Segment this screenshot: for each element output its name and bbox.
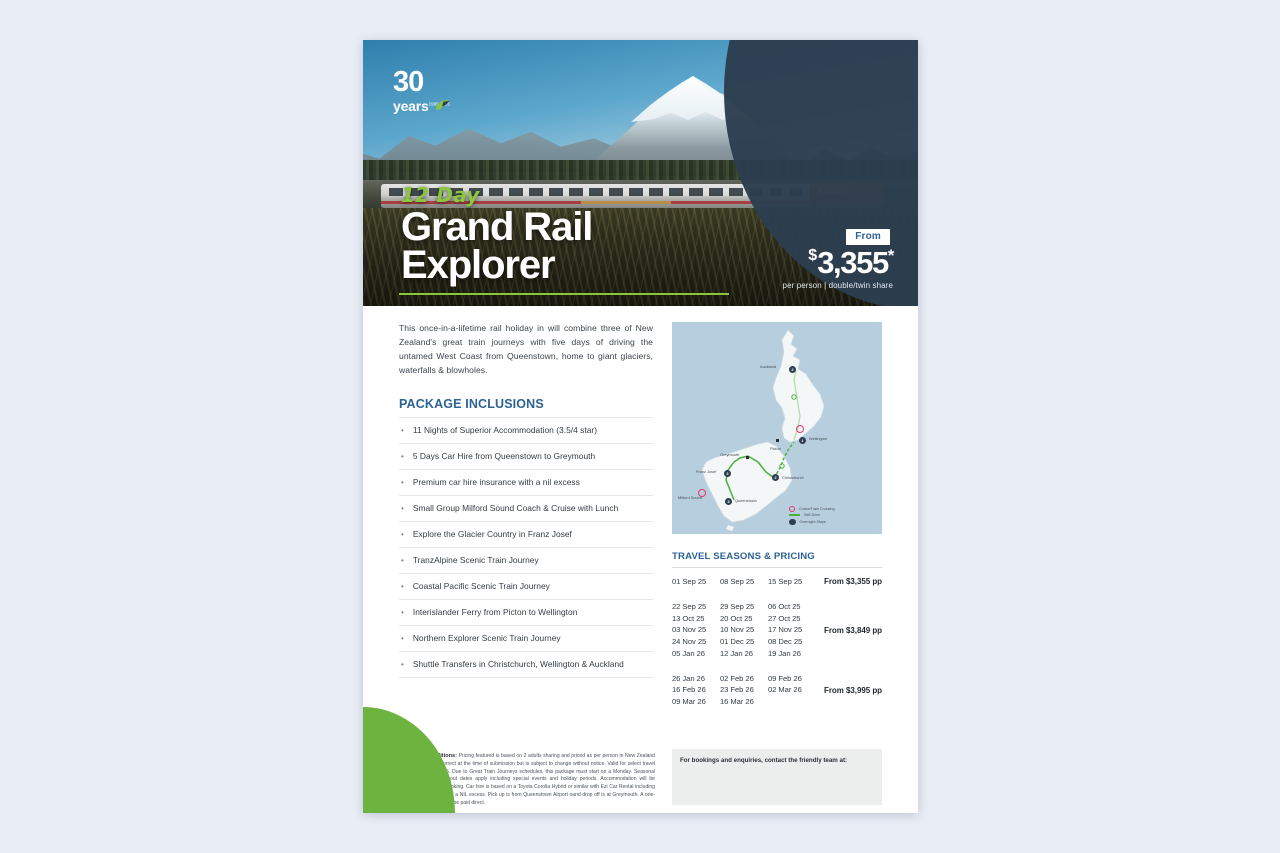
pricing-date-cell: 13 Oct 25 bbox=[672, 613, 720, 625]
inclusion-item: •Northern Explorer Scenic Train Journey bbox=[399, 625, 653, 651]
pricing-date-cell: 12 Jan 26 bbox=[720, 648, 768, 660]
inclusion-label: Explore the Glacier Country in Franz Jos… bbox=[413, 529, 572, 539]
map-label-franz-josef: Franz Josef bbox=[696, 469, 716, 474]
kiwi-bird-icon bbox=[435, 98, 451, 112]
legend-item-overnight: Overnight Stays bbox=[789, 519, 875, 526]
pricing-group: 26 Jan 2602 Feb 2609 Feb 2616 Feb 2623 F… bbox=[672, 673, 882, 708]
map-legend: Cruise/Train Crossing Self-Drive Overnig… bbox=[789, 506, 875, 525]
bullet-icon: • bbox=[401, 609, 404, 617]
hero-title-block: 12 Day Grand Rail Explorer bbox=[401, 183, 592, 284]
price-amount: $3,355* bbox=[808, 247, 893, 278]
pricing-date-cell: 24 Nov 25 bbox=[672, 636, 720, 648]
pricing-date-cell: 05 Jan 26 bbox=[672, 648, 720, 660]
bullet-icon: • bbox=[401, 505, 404, 513]
inclusions-heading: PACKAGE INCLUSIONS bbox=[399, 397, 653, 411]
inclusion-label: Interislander Ferry from Picton to Welli… bbox=[413, 607, 578, 617]
pricing-date-cell: 15 Sep 25 bbox=[768, 576, 816, 588]
pricing-date-block: 22 Sep 2529 Sep 2506 Oct 2513 Oct 2520 O… bbox=[672, 601, 818, 660]
pricing-date-row: 24 Nov 2501 Dec 2508 Dec 25 bbox=[672, 636, 818, 648]
pricing-date-row: 13 Oct 2520 Oct 2527 Oct 25 bbox=[672, 613, 818, 625]
intro-paragraph: This once-in-a-lifetime rail holiday in … bbox=[399, 322, 653, 378]
page-body: This once-in-a-lifetime rail holiday in … bbox=[363, 306, 918, 813]
map-pin-queenstown: 3 bbox=[725, 498, 732, 505]
screenshot-stage: KiwiRail 30 years1995 2025 bbox=[0, 0, 1280, 853]
hero-banner: KiwiRail 30 years1995 2025 bbox=[363, 40, 918, 306]
pricing-date-cell: 23 Feb 26 bbox=[720, 684, 768, 696]
inclusion-item: •Coastal Pacific Scenic Train Journey bbox=[399, 573, 653, 599]
pricing-date-cell: 19 Jan 26 bbox=[768, 648, 816, 660]
map-label-queenstown: Queenstown bbox=[735, 498, 757, 503]
title-underline-rule bbox=[399, 293, 729, 295]
pricing-date-block: 26 Jan 2602 Feb 2609 Feb 2616 Feb 2623 F… bbox=[672, 673, 818, 708]
map-pin-christchurch: 2 bbox=[772, 474, 779, 481]
inclusion-item: •11 Nights of Superior Accommodation (3.… bbox=[399, 417, 653, 443]
new-zealand-map-svg bbox=[672, 322, 882, 534]
route-map: 2 1 2 2 3 Auckland Wellington Picton Gre… bbox=[672, 322, 882, 534]
pricing-date-row: 01 Sep 2508 Sep 2515 Sep 25 bbox=[672, 576, 818, 588]
pricing-date-cell: 29 Sep 25 bbox=[720, 601, 768, 613]
pricing-date-row: 05 Jan 2612 Jan 2619 Jan 26 bbox=[672, 648, 818, 660]
map-label-christchurch: Christchurch bbox=[782, 475, 804, 480]
pricing-date-cell: 09 Mar 26 bbox=[672, 696, 720, 708]
pricing-date-cell: 26 Jan 26 bbox=[672, 673, 720, 685]
map-marker-greymouth bbox=[746, 456, 749, 459]
pricing-amount: From $3,849 pp bbox=[818, 626, 882, 635]
anniversary-number-row: 30 bbox=[393, 68, 455, 97]
cruise-train-crossing-icon bbox=[789, 506, 795, 512]
pricing-amount: From $3,355 pp bbox=[818, 577, 882, 586]
bullet-icon: • bbox=[401, 479, 404, 487]
pricing-date-cell: 01 Sep 25 bbox=[672, 576, 720, 588]
pricing-divider bbox=[672, 567, 882, 568]
self-drive-icon bbox=[789, 514, 800, 516]
map-pin-wellington: 1 bbox=[799, 437, 806, 444]
pricing-date-cell: 27 Oct 25 bbox=[768, 613, 816, 625]
inclusion-label: 5 Days Car Hire from Queenstown to Greym… bbox=[413, 451, 595, 461]
inclusion-item: •Small Group Milford Sound Coach & Cruis… bbox=[399, 495, 653, 521]
pricing-date-cell: 22 Sep 25 bbox=[672, 601, 720, 613]
inclusion-label: Coastal Pacific Scenic Train Journey bbox=[413, 581, 550, 591]
pricing-date-cell: 16 Mar 26 bbox=[720, 696, 768, 708]
pricing-date-cell: 08 Dec 25 bbox=[768, 636, 816, 648]
currency-symbol: $ bbox=[808, 247, 817, 264]
inclusion-item: •TranzAlpine Scenic Train Journey bbox=[399, 547, 653, 573]
pricing-date-cell: 03 Nov 25 bbox=[672, 624, 720, 636]
legend-label-selfdrive: Self-Drive bbox=[804, 512, 820, 518]
inclusion-label: Northern Explorer Scenic Train Journey bbox=[413, 633, 561, 643]
pricing-date-row: 09 Mar 2616 Mar 26 bbox=[672, 696, 818, 708]
bullet-icon: • bbox=[401, 661, 404, 669]
anniversary-word: years bbox=[393, 98, 429, 114]
bullet-icon: • bbox=[401, 453, 404, 461]
price-basis-note: per person | double/twin share bbox=[783, 281, 893, 290]
map-label-wellington: Wellington bbox=[809, 436, 827, 441]
price-asterisk: * bbox=[888, 246, 893, 265]
pricing-group: 22 Sep 2529 Sep 2506 Oct 2513 Oct 2520 O… bbox=[672, 601, 882, 660]
pricing-group: 01 Sep 2508 Sep 2515 Sep 25From $3,355 p… bbox=[672, 576, 882, 588]
pricing-groups: 01 Sep 2508 Sep 2515 Sep 25From $3,355 p… bbox=[672, 576, 882, 708]
pricing-date-row: 16 Feb 2623 Feb 2602 Mar 26 bbox=[672, 684, 818, 696]
map-label-picton: Picton bbox=[770, 446, 781, 451]
pricing-date-block: 01 Sep 2508 Sep 2515 Sep 25 bbox=[672, 576, 818, 588]
tour-title-line2: Explorer bbox=[401, 246, 592, 284]
right-column: 2 1 2 2 3 Auckland Wellington Picton Gre… bbox=[672, 322, 882, 721]
tour-duration-kicker: 12 Day bbox=[401, 183, 592, 207]
map-marker-picton bbox=[776, 439, 779, 442]
bullet-icon: • bbox=[401, 557, 404, 565]
pricing-heading: TRAVEL SEASONS & PRICING bbox=[672, 551, 882, 562]
inclusion-item: •5 Days Car Hire from Queenstown to Grey… bbox=[399, 443, 653, 469]
anniversary-logo: 30 years1995 2025 bbox=[393, 68, 455, 120]
pricing-date-cell: 08 Sep 25 bbox=[720, 576, 768, 588]
pricing-date-cell: 17 Nov 25 bbox=[768, 624, 816, 636]
pricing-date-row: 03 Nov 2510 Nov 2517 Nov 25 bbox=[672, 624, 818, 636]
pricing-date-row: 26 Jan 2602 Feb 2609 Feb 26 bbox=[672, 673, 818, 685]
pricing-date-cell bbox=[768, 696, 816, 708]
inclusion-label: 11 Nights of Superior Accommodation (3.5… bbox=[413, 425, 597, 435]
pricing-date-cell: 20 Oct 25 bbox=[720, 613, 768, 625]
pricing-section: TRAVEL SEASONS & PRICING 01 Sep 2508 Sep… bbox=[672, 551, 882, 708]
pricing-date-row: 22 Sep 2529 Sep 2506 Oct 25 bbox=[672, 601, 818, 613]
pricing-date-cell: 01 Dec 25 bbox=[720, 636, 768, 648]
pricing-date-cell: 06 Oct 25 bbox=[768, 601, 816, 613]
from-badge: From bbox=[846, 229, 890, 245]
map-pin-auckland: 2 bbox=[789, 366, 796, 373]
inclusion-item: •Premium car hire insurance with a nil e… bbox=[399, 469, 653, 495]
contact-text: For bookings and enquiries, contact the … bbox=[672, 749, 882, 764]
price-value: 3,355 bbox=[817, 245, 888, 280]
inclusion-label: TranzAlpine Scenic Train Journey bbox=[413, 555, 539, 565]
contact-box: For bookings and enquiries, contact the … bbox=[672, 749, 882, 805]
bullet-icon: • bbox=[401, 635, 404, 643]
inclusion-label: Small Group Milford Sound Coach & Cruise… bbox=[413, 503, 618, 513]
inclusion-label: Premium car hire insurance with a nil ex… bbox=[413, 477, 580, 487]
brochure-page: KiwiRail 30 years1995 2025 bbox=[363, 40, 918, 813]
legend-label-overnight: Overnight Stays bbox=[800, 519, 826, 525]
inclusion-item: •Interislander Ferry from Picton to Well… bbox=[399, 599, 653, 625]
anniversary-number: 30 bbox=[393, 66, 423, 98]
pricing-date-cell: 10 Nov 25 bbox=[720, 624, 768, 636]
inclusion-label: Shuttle Transfers in Christchurch, Welli… bbox=[413, 659, 624, 669]
map-label-milford-sound: Milford Sound bbox=[678, 495, 702, 500]
map-pin-franz-josef: 2 bbox=[724, 470, 731, 477]
pricing-date-cell: 16 Feb 26 bbox=[672, 684, 720, 696]
tour-title-line1: Grand Rail bbox=[401, 208, 592, 246]
pricing-date-cell: 09 Feb 26 bbox=[768, 673, 816, 685]
overnight-stays-icon bbox=[789, 519, 796, 526]
left-column: This once-in-a-lifetime rail holiday in … bbox=[399, 322, 653, 678]
map-ring-wellington bbox=[796, 425, 804, 433]
bullet-icon: • bbox=[401, 583, 404, 591]
inclusion-item: •Explore the Glacier Country in Franz Jo… bbox=[399, 521, 653, 547]
map-label-greymouth: Greymouth bbox=[720, 452, 739, 457]
bullet-icon: • bbox=[401, 427, 404, 435]
inclusion-item: •Shuttle Transfers in Christchurch, Well… bbox=[399, 651, 653, 678]
inclusions-list: •11 Nights of Superior Accommodation (3.… bbox=[399, 417, 653, 678]
bullet-icon: • bbox=[401, 531, 404, 539]
pricing-date-cell: 02 Mar 26 bbox=[768, 684, 816, 696]
map-label-auckland: Auckland bbox=[760, 364, 776, 369]
pricing-date-cell: 02 Feb 26 bbox=[720, 673, 768, 685]
pricing-amount: From $3,995 pp bbox=[818, 686, 882, 695]
